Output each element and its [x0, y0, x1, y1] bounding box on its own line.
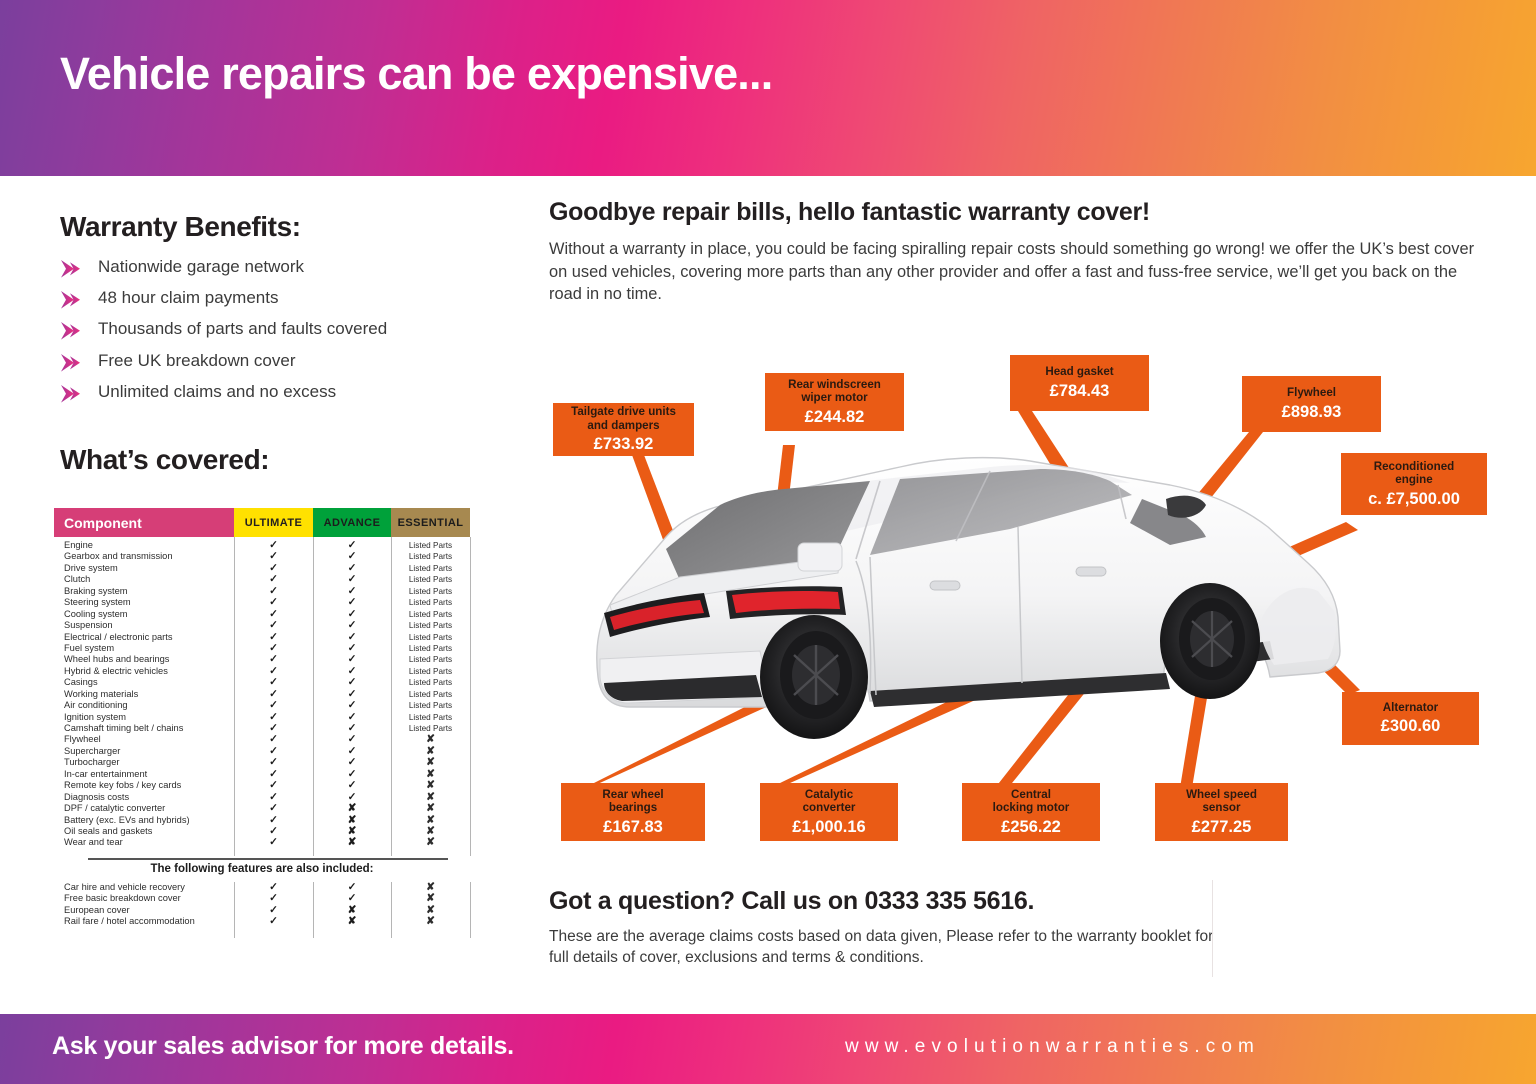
table-row: Free basic breakdown cover✓✓✘	[54, 893, 470, 904]
cell-ultimate: ✓	[234, 780, 313, 791]
table-row: Casings✓✓Listed Parts	[54, 677, 470, 688]
row-component-name: Suspension	[54, 620, 234, 631]
callout-central-locking-motor: Centrallocking motor £256.22	[962, 783, 1100, 841]
callout-reconditioned-engine: Reconditionedengine c. £7,500.00	[1341, 453, 1487, 515]
cell-essential: ✘	[391, 780, 470, 791]
cell-advance: ✓	[313, 700, 391, 711]
brochure-page: Vehicle repairs can be expensive... Warr…	[0, 0, 1536, 1084]
benefit-item: Nationwide garage network	[60, 257, 490, 288]
callout-label: Reconditionedengine	[1374, 460, 1455, 487]
row-component-name: Engine	[54, 540, 234, 551]
table-column-rule	[313, 537, 314, 856]
table-row: Working materials✓✓Listed Parts	[54, 689, 470, 700]
callout-label: Tailgate drive unitsand dampers	[571, 405, 676, 432]
callout-label: Rear wheelbearings	[602, 788, 663, 815]
chevron-right-icon	[60, 322, 84, 340]
benefits-heading: Warranty Benefits:	[60, 211, 301, 243]
cell-essential: Listed Parts	[391, 632, 470, 643]
row-component-name: Supercharger	[54, 746, 234, 757]
callout-rear-wheel-bearings: Rear wheelbearings £167.83	[561, 783, 705, 841]
table-column-rule	[470, 537, 471, 856]
cell-essential: ✘	[391, 803, 470, 814]
car-illustration	[570, 445, 1360, 785]
row-component-name: Electrical / electronic parts	[54, 632, 234, 643]
table-row: Fuel system✓✓Listed Parts	[54, 643, 470, 654]
row-component-name: Car hire and vehicle recovery	[54, 882, 234, 893]
cell-essential: Listed Parts	[391, 563, 470, 574]
cell-advance: ✓	[313, 780, 391, 791]
row-component-name: Hybrid & electric vehicles	[54, 666, 234, 677]
table-row: Braking system✓✓Listed Parts	[54, 586, 470, 597]
chevron-right-icon	[60, 385, 84, 403]
row-component-name: Gearbox and transmission	[54, 551, 234, 562]
cell-advance: ✘	[313, 803, 391, 814]
callout-price: c. £7,500.00	[1368, 489, 1460, 509]
cell-essential: Listed Parts	[391, 540, 470, 551]
intro-body: Without a warranty in place, you could b…	[549, 238, 1494, 306]
cell-advance: ✘	[313, 837, 391, 848]
cell-essential: Listed Parts	[391, 654, 470, 665]
benefit-label: Thousands of parts and faults covered	[98, 319, 387, 339]
row-component-name: Braking system	[54, 586, 234, 597]
table-column-rule	[391, 537, 392, 856]
table-row: Remote key fobs / key cards✓✓✘	[54, 780, 470, 791]
column-header-component: Component	[54, 508, 234, 537]
row-component-name: Oil seals and gaskets	[54, 826, 234, 837]
row-component-name: Diagnosis costs	[54, 792, 234, 803]
callout-price: £167.83	[603, 817, 663, 837]
row-component-name: Turbocharger	[54, 757, 234, 768]
callout-price: £898.93	[1282, 402, 1342, 422]
cell-advance: ✓	[313, 677, 391, 688]
table-row: Engine✓✓Listed Parts	[54, 540, 470, 551]
cell-essential: Listed Parts	[391, 677, 470, 688]
row-component-name: Drive system	[54, 563, 234, 574]
cell-essential: Listed Parts	[391, 712, 470, 723]
benefit-item: Unlimited claims and no excess	[60, 382, 490, 413]
cell-essential: Listed Parts	[391, 620, 470, 631]
row-component-name: European cover	[54, 905, 234, 916]
table-row: European cover✓✘✘	[54, 905, 470, 916]
row-component-name: Casings	[54, 677, 234, 688]
benefit-item: 48 hour claim payments	[60, 288, 490, 319]
cell-ultimate: ✓	[234, 620, 313, 631]
cta-divider	[1212, 880, 1213, 977]
callout-label: Centrallocking motor	[993, 788, 1070, 815]
cell-advance: ✘	[313, 916, 391, 927]
callout-label: Head gasket	[1045, 365, 1113, 379]
row-component-name: Battery (exc. EVs and hybrids)	[54, 815, 234, 826]
callout-price: £733.92	[594, 434, 654, 454]
table-row: Air conditioning✓✓Listed Parts	[54, 700, 470, 711]
benefits-list: Nationwide garage network48 hour claim p…	[60, 257, 490, 413]
cell-essential: Listed Parts	[391, 700, 470, 711]
table-row: Suspension✓✓Listed Parts	[54, 620, 470, 631]
covered-heading: What’s covered:	[60, 444, 269, 476]
callout-price: £300.60	[1381, 716, 1441, 736]
features-table: Car hire and vehicle recovery✓✓✘Free bas…	[54, 882, 470, 928]
cell-advance: ✓	[313, 620, 391, 631]
cell-essential: Listed Parts	[391, 574, 470, 585]
table-body: Engine✓✓Listed PartsGearbox and transmis…	[54, 537, 470, 849]
column-header-ultimate: ULTIMATE	[234, 508, 313, 537]
cell-ultimate: ✓	[234, 837, 313, 848]
row-component-name: Wear and tear	[54, 837, 234, 848]
table-header-row: Component ULTIMATE ADVANCE ESSENTIAL	[54, 508, 470, 537]
cta-disclaimer: These are the average claims costs based…	[549, 926, 1214, 968]
chevron-right-icon	[60, 354, 84, 372]
table-row: Car hire and vehicle recovery✓✓✘	[54, 882, 470, 893]
row-component-name: Rail fare / hotel accommodation	[54, 916, 234, 927]
table-row: Steering system✓✓Listed Parts	[54, 597, 470, 608]
row-component-name: Working materials	[54, 689, 234, 700]
column-header-advance: ADVANCE	[313, 508, 391, 537]
cell-essential: ✘	[391, 837, 470, 848]
cell-ultimate: ✓	[234, 700, 313, 711]
table-column-rule	[234, 882, 235, 938]
cell-advance: ✓	[313, 597, 391, 608]
callout-wheel-speed-sensor: Wheel speedsensor £277.25	[1155, 783, 1288, 841]
chevron-right-icon	[60, 260, 84, 278]
footer-tagline: Ask your sales advisor for more details.	[52, 1032, 514, 1061]
benefit-label: Nationwide garage network	[98, 257, 304, 277]
row-component-name: Remote key fobs / key cards	[54, 780, 234, 791]
benefit-label: Unlimited claims and no excess	[98, 382, 336, 402]
cell-ultimate: ✓	[234, 597, 313, 608]
header-banner: Vehicle repairs can be expensive...	[0, 0, 1536, 176]
cell-essential: Listed Parts	[391, 689, 470, 700]
table-row: Ignition system✓✓Listed Parts	[54, 712, 470, 723]
table-row: Cooling system✓✓Listed Parts	[54, 609, 470, 620]
cell-ultimate: ✓	[234, 677, 313, 688]
table-row: DPF / catalytic converter✓✘✘	[54, 803, 470, 814]
callout-label: Wheel speedsensor	[1186, 788, 1257, 815]
cell-essential: Listed Parts	[391, 551, 470, 562]
callout-alternator: Alternator £300.60	[1342, 692, 1479, 745]
table-row: Turbocharger✓✓✘	[54, 757, 470, 768]
cell-ultimate: ✓	[234, 803, 313, 814]
table-row: Electrical / electronic parts✓✓Listed Pa…	[54, 632, 470, 643]
benefit-label: Free UK breakdown cover	[98, 351, 295, 371]
callout-catalytic-converter: Catalyticconverter £1,000.16	[760, 783, 898, 841]
table-row: Oil seals and gaskets✓✘✘	[54, 826, 470, 837]
table-column-rule	[313, 882, 314, 938]
row-component-name: Steering system	[54, 597, 234, 608]
callout-flywheel: Flywheel £898.93	[1242, 376, 1381, 432]
features-title: The following features are also included…	[54, 863, 470, 875]
row-component-name: In-car entertainment	[54, 769, 234, 780]
callout-label: Catalyticconverter	[803, 788, 856, 815]
table-row: Drive system✓✓Listed Parts	[54, 563, 470, 574]
callout-price: £277.25	[1192, 817, 1252, 837]
table-row: Flywheel✓✓✘	[54, 734, 470, 745]
table-row: In-car entertainment✓✓✘	[54, 769, 470, 780]
benefit-item: Thousands of parts and faults covered	[60, 319, 490, 350]
table-column-rule	[391, 882, 392, 938]
table-row: Gearbox and transmission✓✓Listed Parts	[54, 551, 470, 562]
callout-tailgate: Tailgate drive unitsand dampers £733.92	[553, 403, 694, 456]
table-row: Camshaft timing belt / chains✓✓Listed Pa…	[54, 723, 470, 734]
features-divider	[88, 858, 448, 860]
row-component-name: Fuel system	[54, 643, 234, 654]
table-column-rule	[234, 537, 235, 856]
table-row: Hybrid & electric vehicles✓✓Listed Parts	[54, 666, 470, 677]
row-component-name: Wheel hubs and bearings	[54, 654, 234, 665]
table-row: Diagnosis costs✓✓✘	[54, 792, 470, 803]
intro-heading: Goodbye repair bills, hello fantastic wa…	[549, 198, 1150, 227]
callout-price: £1,000.16	[792, 817, 865, 837]
cell-essential: ✘	[391, 916, 470, 927]
page-title: Vehicle repairs can be expensive...	[60, 48, 772, 100]
row-component-name: Air conditioning	[54, 700, 234, 711]
row-component-name: Ignition system	[54, 712, 234, 723]
cell-essential: Listed Parts	[391, 643, 470, 654]
table-row: Wear and tear✓✘✘	[54, 837, 470, 848]
row-component-name: Cooling system	[54, 609, 234, 620]
callout-label: Flywheel	[1287, 386, 1336, 400]
row-component-name: Free basic breakdown cover	[54, 893, 234, 904]
callout-label: Rear windscreenwiper motor	[788, 378, 881, 405]
table-row: Clutch✓✓Listed Parts	[54, 574, 470, 585]
repair-cost-diagram: Tailgate drive unitsand dampers £733.92 …	[540, 340, 1530, 860]
footer-website-link[interactable]: www.evolutionwarranties.com	[845, 1036, 1260, 1058]
callout-label: Alternator	[1383, 701, 1438, 715]
cta-heading: Got a question? Call us on 0333 335 5616…	[549, 887, 1034, 916]
chevron-right-icon	[60, 291, 84, 309]
cell-essential: Listed Parts	[391, 586, 470, 597]
callout-price: £784.43	[1050, 381, 1110, 401]
table-row: Wheel hubs and bearings✓✓Listed Parts	[54, 654, 470, 665]
row-component-name: DPF / catalytic converter	[54, 803, 234, 814]
row-component-name: Camshaft timing belt / chains	[54, 723, 234, 734]
table-row: Rail fare / hotel accommodation✓✘✘	[54, 916, 470, 927]
cell-ultimate: ✓	[234, 916, 313, 927]
table-column-rule	[470, 882, 471, 938]
benefit-label: 48 hour claim payments	[98, 288, 278, 308]
table-row: Battery (exc. EVs and hybrids)✓✘✘	[54, 815, 470, 826]
cell-essential: Listed Parts	[391, 666, 470, 677]
callout-rear-wiper: Rear windscreenwiper motor £244.82	[765, 373, 904, 431]
callout-price: £256.22	[1001, 817, 1061, 837]
coverage-table: Component ULTIMATE ADVANCE ESSENTIAL Eng…	[54, 508, 470, 849]
benefit-item: Free UK breakdown cover	[60, 351, 490, 382]
cell-essential: Listed Parts	[391, 597, 470, 608]
callout-price: £244.82	[805, 407, 865, 427]
row-component-name: Flywheel	[54, 734, 234, 745]
callout-head-gasket: Head gasket £784.43	[1010, 355, 1149, 411]
cell-essential: Listed Parts	[391, 609, 470, 620]
row-component-name: Clutch	[54, 574, 234, 585]
column-header-essential: ESSENTIAL	[391, 508, 470, 537]
table-row: Supercharger✓✓✘	[54, 746, 470, 757]
